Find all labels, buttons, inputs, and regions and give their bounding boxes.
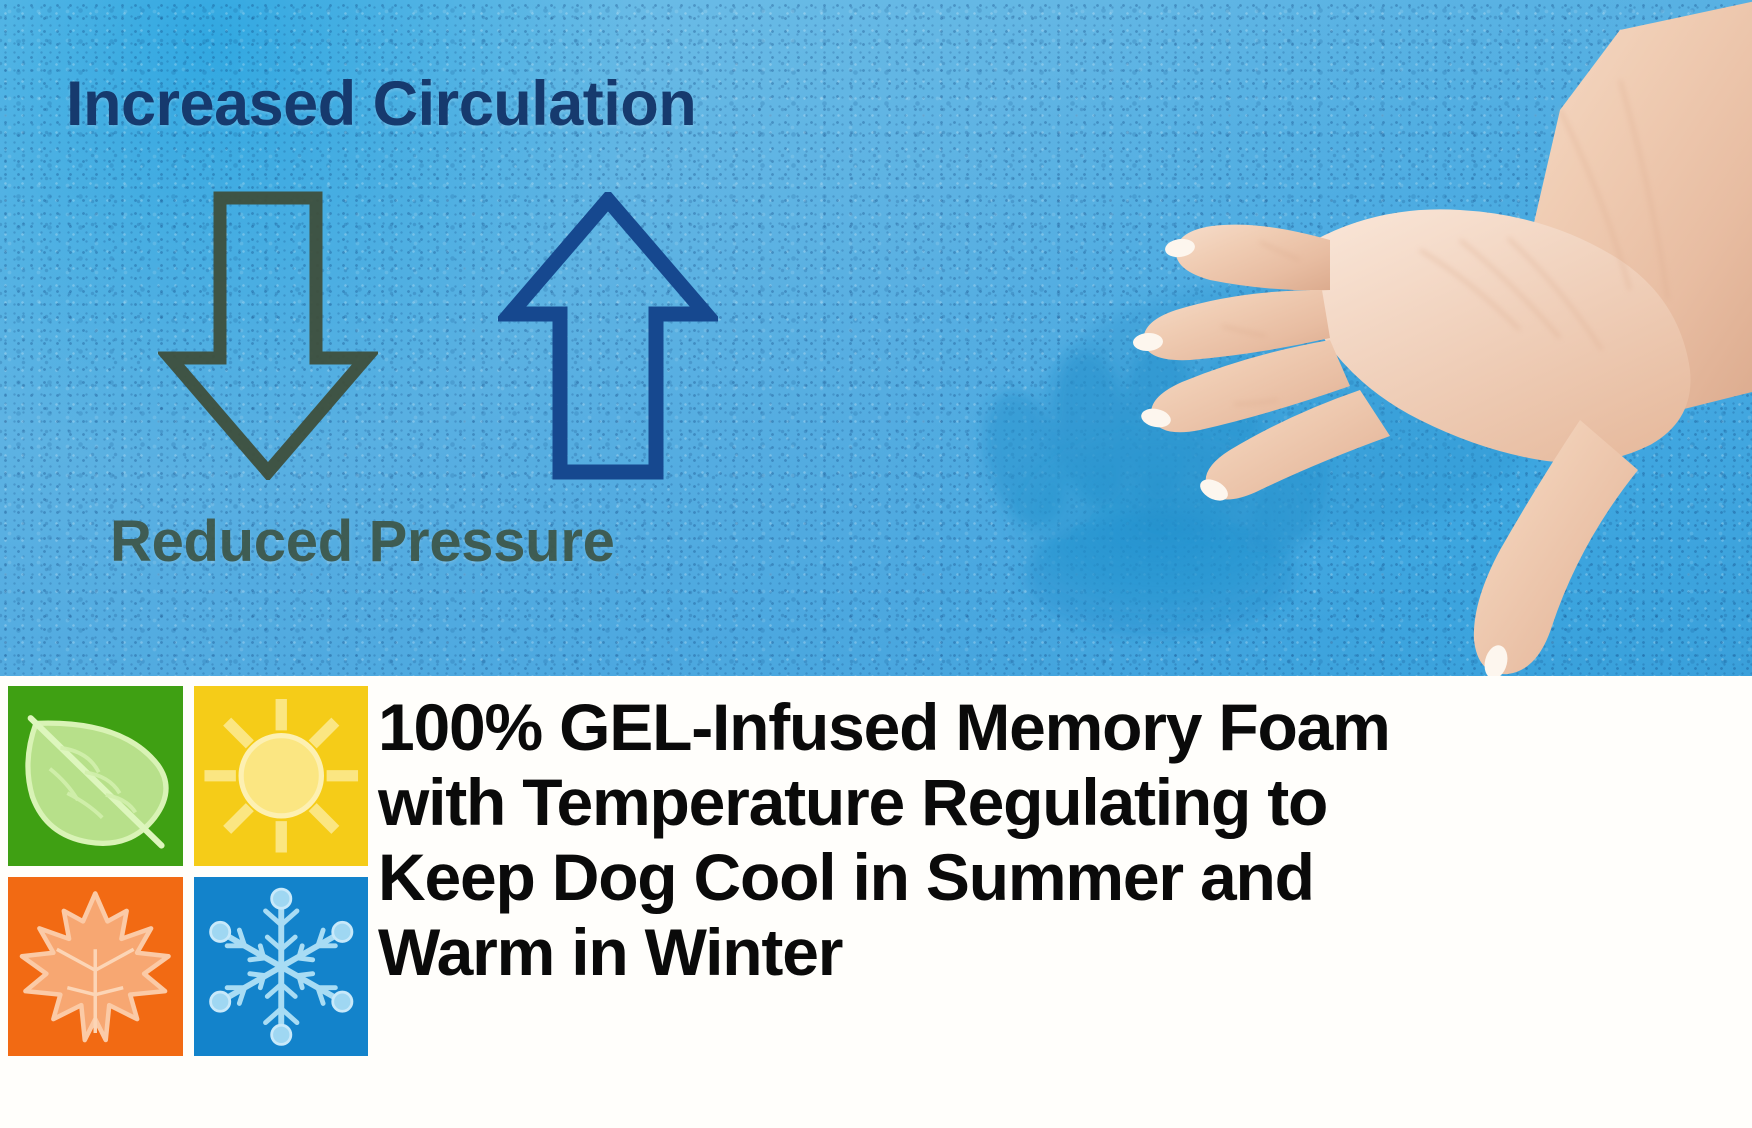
- maple-leaf-icon: [8, 877, 183, 1057]
- season-tile-spring: [8, 686, 183, 866]
- season-tile-winter: [194, 877, 369, 1057]
- headline-line-4: Warm in Winter: [378, 915, 1752, 990]
- season-icon-grid: [8, 686, 368, 1056]
- product-headline: 100% GEL-Infused Memory Foam with Temper…: [378, 690, 1752, 990]
- headline-line-1: 100% GEL-Infused Memory Foam: [378, 690, 1752, 765]
- up-arrow-icon: [498, 192, 718, 480]
- snowflake-icon: [194, 877, 369, 1057]
- hand-illustration: [860, 0, 1752, 676]
- headline-line-3: Keep Dog Cool in Summer and: [378, 840, 1752, 915]
- foam-photo-panel: Increased Circulation Reduced Pressure: [0, 0, 1752, 676]
- feature-panel: 100% GEL-Infused Memory Foam with Temper…: [0, 676, 1752, 1128]
- season-tile-autumn: [8, 877, 183, 1057]
- headline-line-2: with Temperature Regulating to: [378, 765, 1752, 840]
- sun-icon: [194, 686, 369, 866]
- leaf-icon: [8, 686, 183, 866]
- foam-headline-increased-circulation: Increased Circulation: [66, 68, 696, 140]
- foam-headline-reduced-pressure: Reduced Pressure: [110, 508, 615, 575]
- finger-index: [1176, 225, 1330, 291]
- season-tile-summer: [194, 686, 369, 866]
- hand-photo: [860, 0, 1752, 676]
- banner-canvas: Increased Circulation Reduced Pressure: [0, 0, 1752, 1128]
- down-arrow-icon: [158, 190, 378, 480]
